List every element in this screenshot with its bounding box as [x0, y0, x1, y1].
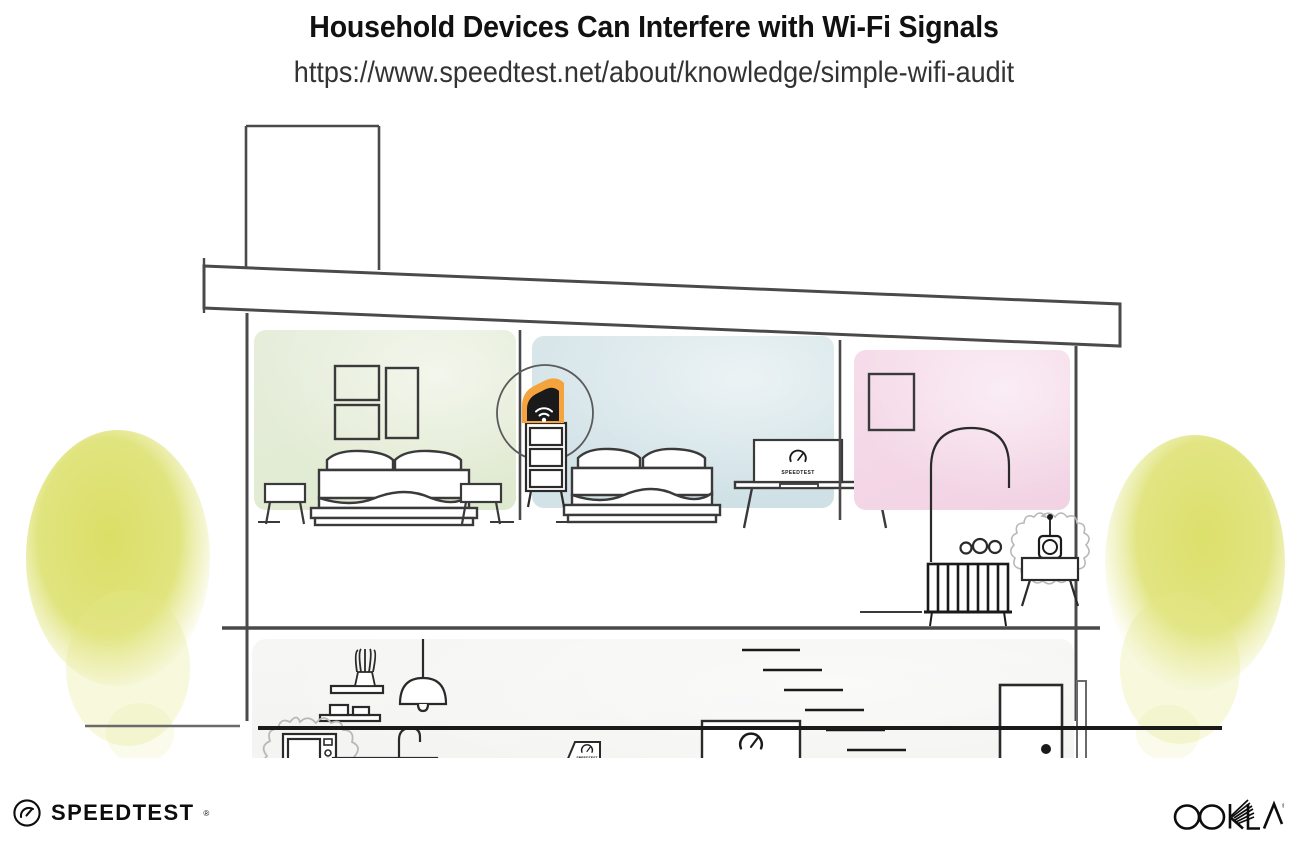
door-knob[interactable]	[1041, 744, 1051, 754]
room-bedroom-middle: SPEEDTEST	[497, 336, 895, 528]
infographic-canvas: Household Devices Can Interfere with Wi-…	[0, 0, 1308, 861]
room-nursery	[854, 350, 1089, 626]
page-title: Household Devices Can Interfere with Wi-…	[52, 8, 1255, 47]
window	[1077, 681, 1086, 758]
baby-monitor[interactable]	[1039, 514, 1061, 558]
microwave[interactable]	[283, 734, 336, 758]
speedometer-gauge-icon	[12, 798, 42, 828]
foliage-left	[26, 430, 210, 758]
foliage-right	[1105, 435, 1285, 758]
kitchen-shelf-upper	[331, 686, 383, 693]
speedtest-trademark: ®	[203, 809, 209, 818]
room-bedroom-left	[254, 330, 516, 525]
footer: SPEEDTEST ®	[0, 780, 1308, 861]
laptop-bedroom: SPEEDTEST	[754, 440, 842, 488]
header: Household Devices Can Interfere with Wi-…	[0, 0, 1308, 91]
front-door[interactable]	[1000, 685, 1062, 758]
ookla-logo[interactable]: ®	[1172, 798, 1284, 839]
ookla-trademark: ®	[1282, 803, 1284, 810]
side-table	[1022, 558, 1078, 606]
house-cutaway-illustration: SPEEDTEST	[0, 108, 1308, 758]
chimney	[246, 126, 379, 270]
speedtest-wordmark: SPEEDTEST	[51, 800, 194, 826]
bed	[564, 449, 720, 522]
crib	[924, 564, 1012, 626]
ookla-wordmark: ®	[1172, 798, 1284, 834]
wifi-router[interactable]	[522, 378, 564, 423]
bed	[311, 451, 477, 525]
laptop-screen-label: SPEEDTEST	[781, 470, 814, 476]
room-open-plan-downstairs: SPEEDTEST	[252, 639, 1086, 758]
laptop-screen-label: SPEEDTEST	[576, 756, 598, 758]
source-url: https://www.speedtest.net/about/knowledg…	[65, 55, 1242, 91]
speedtest-logo[interactable]: SPEEDTEST ®	[12, 798, 209, 828]
